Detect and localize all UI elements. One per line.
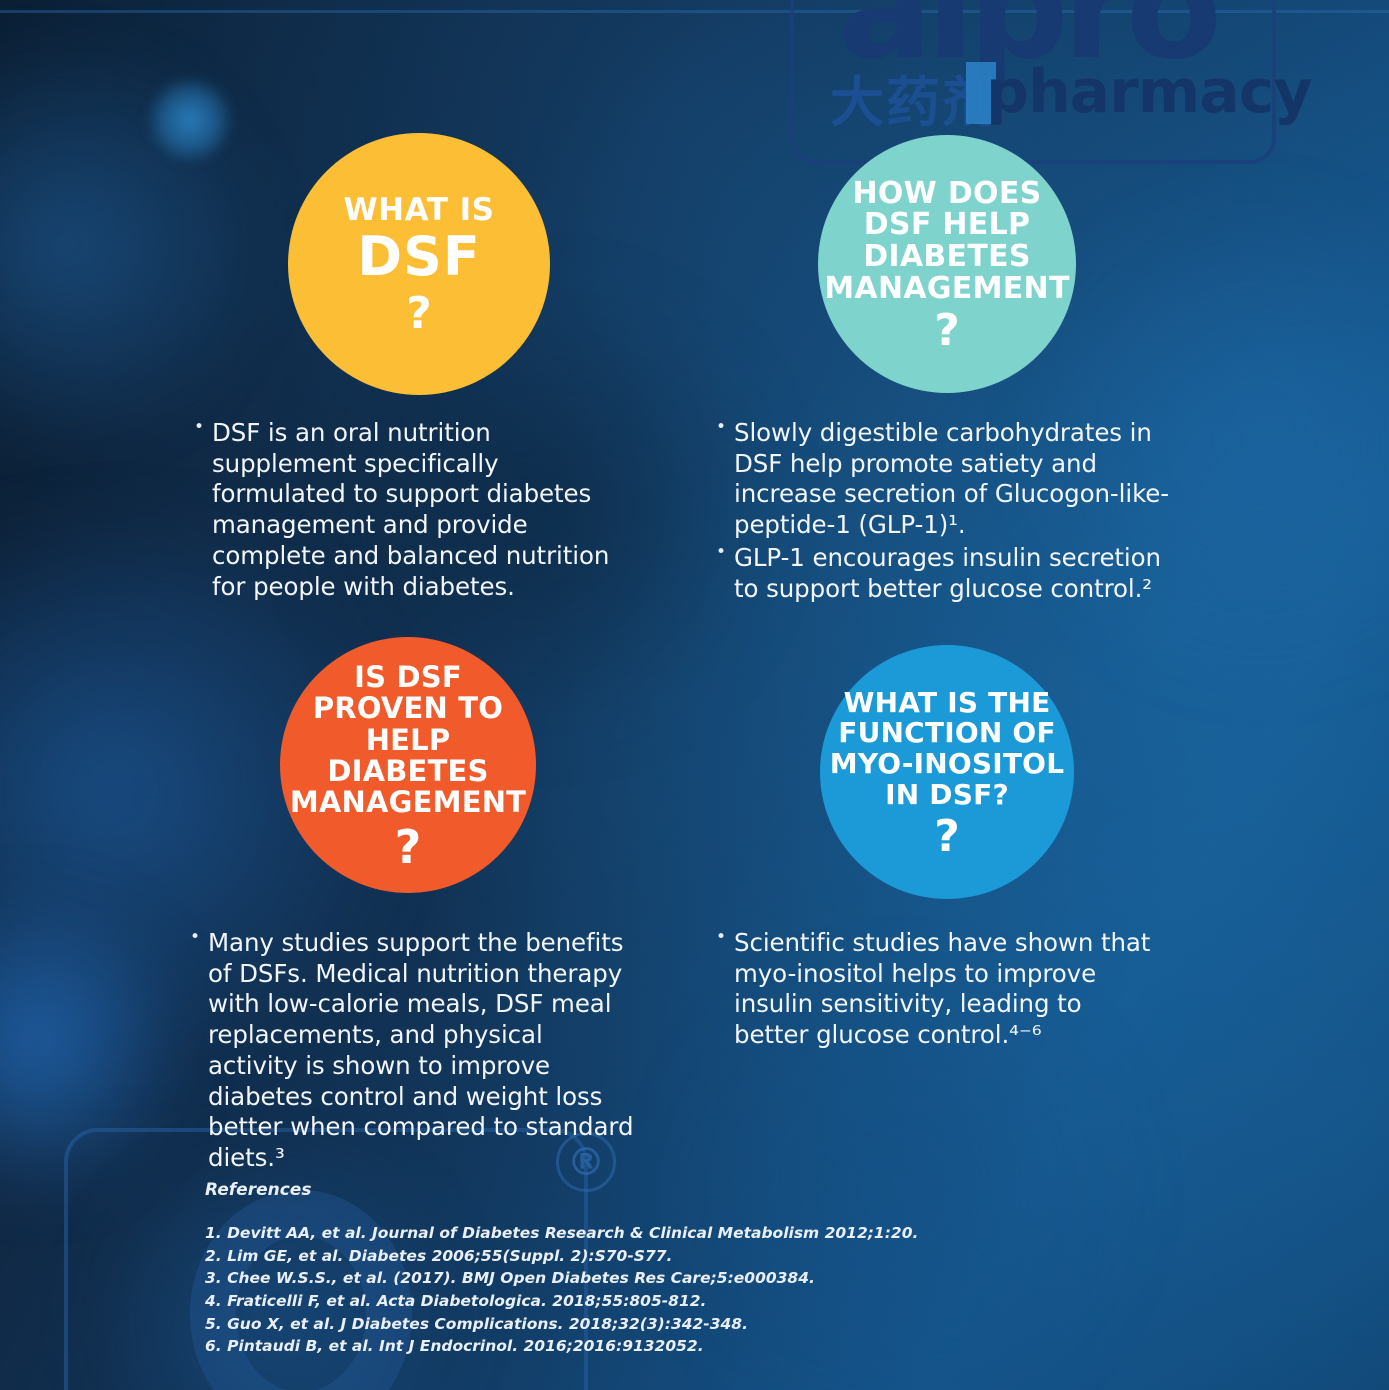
card-circle-is-dsf-proven: IS DSF PROVEN TO HELP DIABETES MANAGEMEN…: [280, 637, 536, 893]
bokeh-circle-1: [0, 30, 280, 460]
circle-title-big: DSF: [357, 229, 481, 286]
bullet-item: GLP-1 encourages insulin secretion to su…: [712, 543, 1172, 604]
card-circle-how-does-dsf-help: HOW DOES DSF HELP DIABETES MANAGEMENT ?: [818, 135, 1076, 393]
brand-subtitle: pharmacy: [986, 62, 1311, 122]
bullet-item: Scientific studies have shown that myo-i…: [712, 928, 1162, 1051]
reference-item: 1. Devitt AA, et al. Journal of Diabetes…: [205, 1222, 885, 1245]
card-body-myo-inositol: Scientific studies have shown that myo-i…: [712, 928, 1162, 1053]
brand-name-chinese: 大药剂: [830, 76, 998, 130]
question-mark-icon: ?: [934, 817, 960, 857]
bokeh-circle-4: [0, 880, 200, 1210]
reference-item: 3. Chee W.S.S., et al. (2017). BMJ Open …: [205, 1267, 885, 1290]
top-divider-line: [0, 10, 1389, 13]
circle-title: HOW DOES DSF HELP DIABETES MANAGEMENT: [824, 178, 1069, 305]
brand-watermark: alpro 大药剂 pharmacy: [790, 0, 1389, 171]
references-list: 1. Devitt AA, et al. Journal of Diabetes…: [205, 1222, 885, 1358]
card-body-how-does-dsf-help: Slowly digestible carbohydrates in DSF h…: [712, 418, 1172, 606]
watermark-frame: [790, 0, 1276, 164]
reference-item: 4. Fraticelli F, et al. Acta Diabetologi…: [205, 1290, 885, 1313]
references-section: References 1. Devitt AA, et al. Journal …: [205, 1180, 885, 1358]
references-heading: References: [205, 1180, 885, 1200]
card-body-is-dsf-proven: Many studies support the benefits of DSF…: [186, 928, 636, 1176]
reference-item: 6. Pintaudi B, et al. Int J Endocrinol. …: [205, 1335, 885, 1358]
bokeh-circle-2: [152, 82, 228, 158]
question-mark-icon: ?: [395, 827, 422, 868]
bullet-item: Many studies support the benefits of DSF…: [186, 928, 636, 1174]
circle-title: WHAT IS THE FUNCTION OF MYO-INOSITOL IN …: [830, 688, 1064, 811]
bullet-item: DSF is an oral nutrition supplement spec…: [190, 418, 620, 602]
reference-item: 2. Lim GE, et al. Diabetes 2006;55(Suppl…: [205, 1245, 885, 1268]
brand-mark-icon: [966, 62, 996, 124]
reference-item: 5. Guo X, et al. J Diabetes Complication…: [205, 1313, 885, 1336]
card-body-what-is-dsf: DSF is an oral nutrition supplement spec…: [190, 418, 620, 604]
circle-title: IS DSF PROVEN TO HELP DIABETES MANAGEMEN…: [280, 662, 536, 819]
circle-title-small: WHAT IS: [343, 195, 494, 227]
card-circle-what-is-dsf: WHAT IS DSF ?: [288, 133, 550, 395]
question-mark-icon: ?: [934, 311, 960, 351]
infographic-poster: alpro 大药剂 pharmacy ® WHAT IS DSF ? HOW D…: [0, 0, 1389, 1390]
question-mark-icon: ?: [406, 294, 432, 334]
card-circle-myo-inositol: WHAT IS THE FUNCTION OF MYO-INOSITOL IN …: [820, 645, 1074, 899]
bullet-item: Slowly digestible carbohydrates in DSF h…: [712, 418, 1172, 541]
